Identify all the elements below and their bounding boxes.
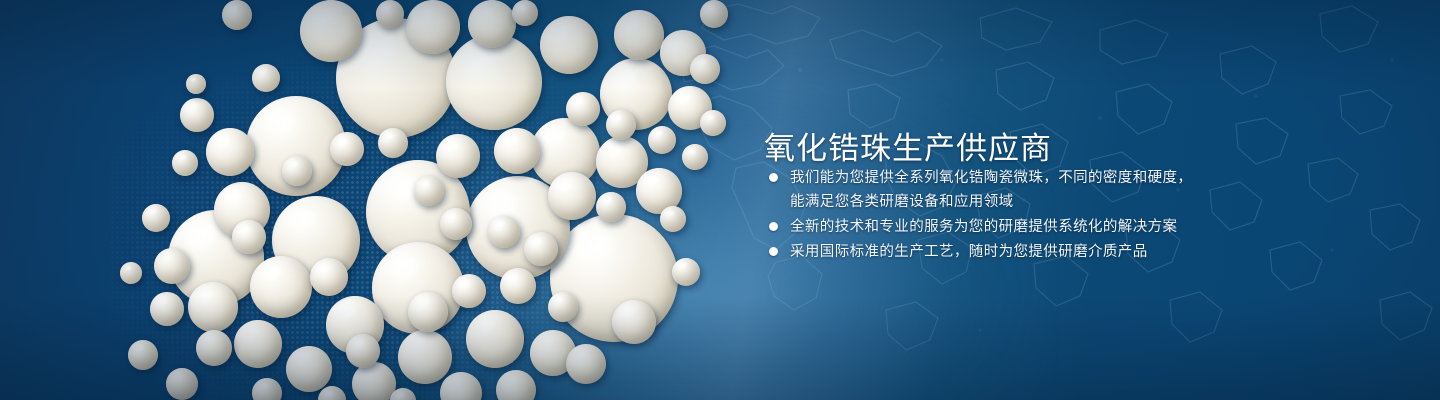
banner-text-content: 氧化锆珠生产供应商 我们能为您提供全系列氧化锆陶瓷微珠，不同的密度和硬度， 能满… <box>764 0 1384 400</box>
bullet-line: 能满足您各类研磨设备和应用领域 <box>790 190 1364 214</box>
list-item: 采用国际标准的生产工艺，随时为您提供研磨介质产品 <box>764 240 1364 264</box>
banner-bullet-list: 我们能为您提供全系列氧化锆陶瓷微珠，不同的密度和硬度， 能满足您各类研磨设备和应… <box>764 166 1364 265</box>
bullet-dot-icon <box>769 173 778 182</box>
hero-banner: 氧化锆珠生产供应商 我们能为您提供全系列氧化锆陶瓷微珠，不同的密度和硬度， 能满… <box>0 0 1440 400</box>
bullet-dot-icon <box>769 222 778 231</box>
list-item: 我们能为您提供全系列氧化锆陶瓷微珠，不同的密度和硬度， 能满足您各类研磨设备和应… <box>764 166 1364 214</box>
bullet-line: 采用国际标准的生产工艺，随时为您提供研磨介质产品 <box>790 240 1364 264</box>
bullet-dot-icon <box>769 247 778 256</box>
bullet-line: 我们能为您提供全系列氧化锆陶瓷微珠，不同的密度和硬度， <box>790 166 1364 190</box>
banner-headline: 氧化锆珠生产供应商 <box>764 129 1052 169</box>
list-item: 全新的技术和专业的服务为您的研磨提供系统化的解决方案 <box>764 215 1364 239</box>
bullet-line: 全新的技术和专业的服务为您的研磨提供系统化的解决方案 <box>790 215 1364 239</box>
